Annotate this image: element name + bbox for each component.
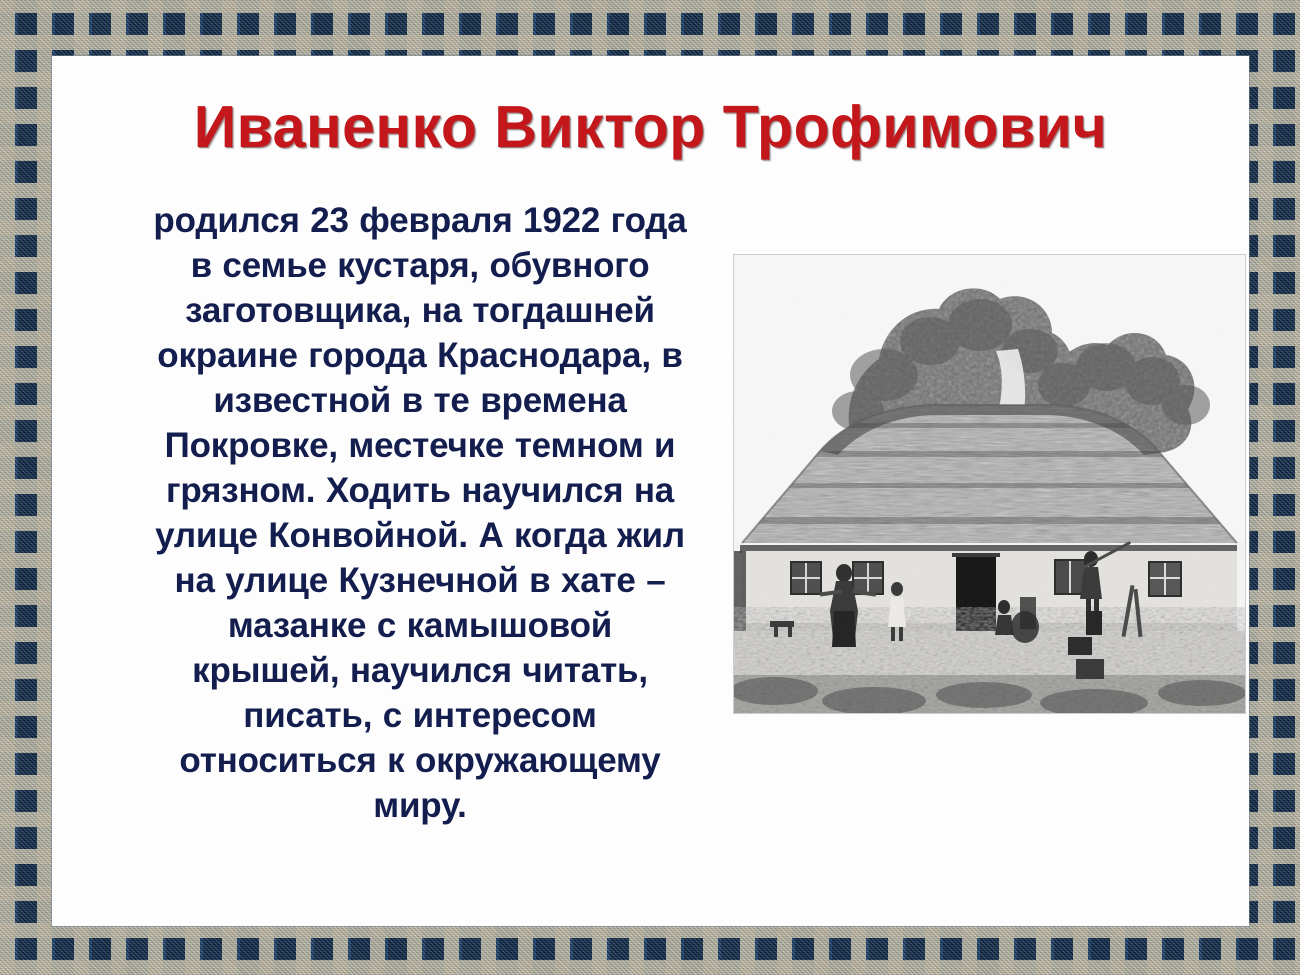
biography-text: родился 23 февраля 1922 года в семье кус… <box>110 198 730 828</box>
historical-photo <box>734 255 1245 713</box>
biography-line: грязном. Ходить научился на <box>166 471 674 510</box>
biography-line: на улице Кузнечной в хате – <box>175 561 666 600</box>
cottage-photo-image <box>734 255 1245 713</box>
biography-line: заготовщика, на тогдашней <box>185 291 655 330</box>
content-panel: Иваненко Виктор Трофимович родился 23 фе… <box>52 56 1249 926</box>
biography-line: улице Конвойной. А когда жил <box>155 516 685 555</box>
biography-line: в семье кустаря, обувного <box>191 246 650 285</box>
biography-line: писать, с интересом <box>243 696 596 735</box>
slide: Иваненко Виктор Трофимович родился 23 фе… <box>0 0 1300 975</box>
biography-line: известной в те времена <box>213 381 626 420</box>
biography-line: окраине города Краснодара, в <box>157 336 682 375</box>
biography-line: родился 23 февраля 1922 года <box>153 201 686 240</box>
biography-line: мазанке с камышовой <box>228 606 612 645</box>
biography-line: крышей, научился читать, <box>192 651 648 690</box>
biography-line: относиться к окружающему <box>179 741 660 780</box>
page-title: Иваненко Виктор Трофимович <box>52 98 1249 157</box>
biography-line: Покровке, местечке темном и <box>165 426 676 465</box>
biography-line: миру. <box>373 786 466 825</box>
